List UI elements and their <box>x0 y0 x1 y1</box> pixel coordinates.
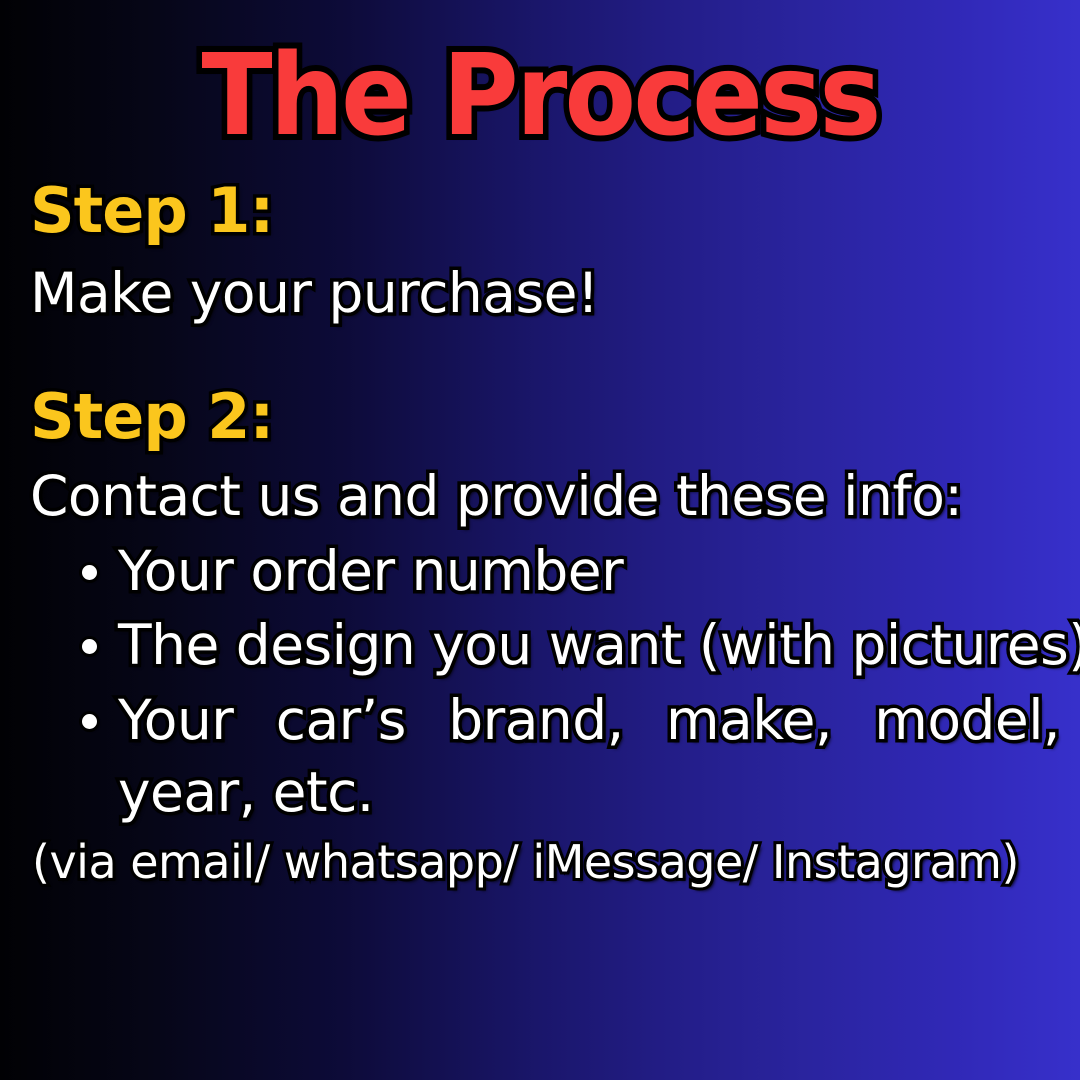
bullet-dot-icon <box>82 714 97 729</box>
list-item: Your car’s brand, make, model, year, etc… <box>82 684 1060 829</box>
step-2-heading: Step 2: <box>30 382 1060 451</box>
bullet-dot-icon <box>82 639 97 654</box>
list-item: Your order number <box>82 535 1060 608</box>
title-container: The Process <box>0 40 1080 152</box>
step-1-heading: Step 1: <box>30 176 1060 245</box>
spacer <box>30 452 1060 464</box>
spacer <box>30 245 1060 261</box>
step-1-body: Make your purchase! <box>30 261 1060 326</box>
page-title: The Process <box>201 40 878 152</box>
step-2-bullet-list: Your order number The design you want (w… <box>30 535 1060 829</box>
steps-container: Step 1: Make your purchase! Step 2: Cont… <box>30 176 1060 890</box>
list-item-label-continuation: year, etc. <box>118 756 1060 829</box>
list-item: The design you want (with pictures) <box>82 609 1060 682</box>
process-poster: The Process Step 1: Make your purchase! … <box>0 0 1080 1080</box>
step-2-body: Contact us and provide these info: <box>30 464 1060 529</box>
spacer <box>30 326 1060 382</box>
step-1-block: Step 1: Make your purchase! <box>30 176 1060 326</box>
list-item-label: The design you want (with pictures) <box>118 613 1080 677</box>
bullet-dot-icon <box>82 565 97 580</box>
contact-channels-note: (via email/ whatsapp/ iMessage/ Instagra… <box>30 835 1060 890</box>
step-2-block: Step 2: Contact us and provide these inf… <box>30 382 1060 890</box>
list-item-label: Your order number <box>118 539 623 603</box>
list-item-label: Your car’s brand, make, model, <box>118 688 1060 752</box>
